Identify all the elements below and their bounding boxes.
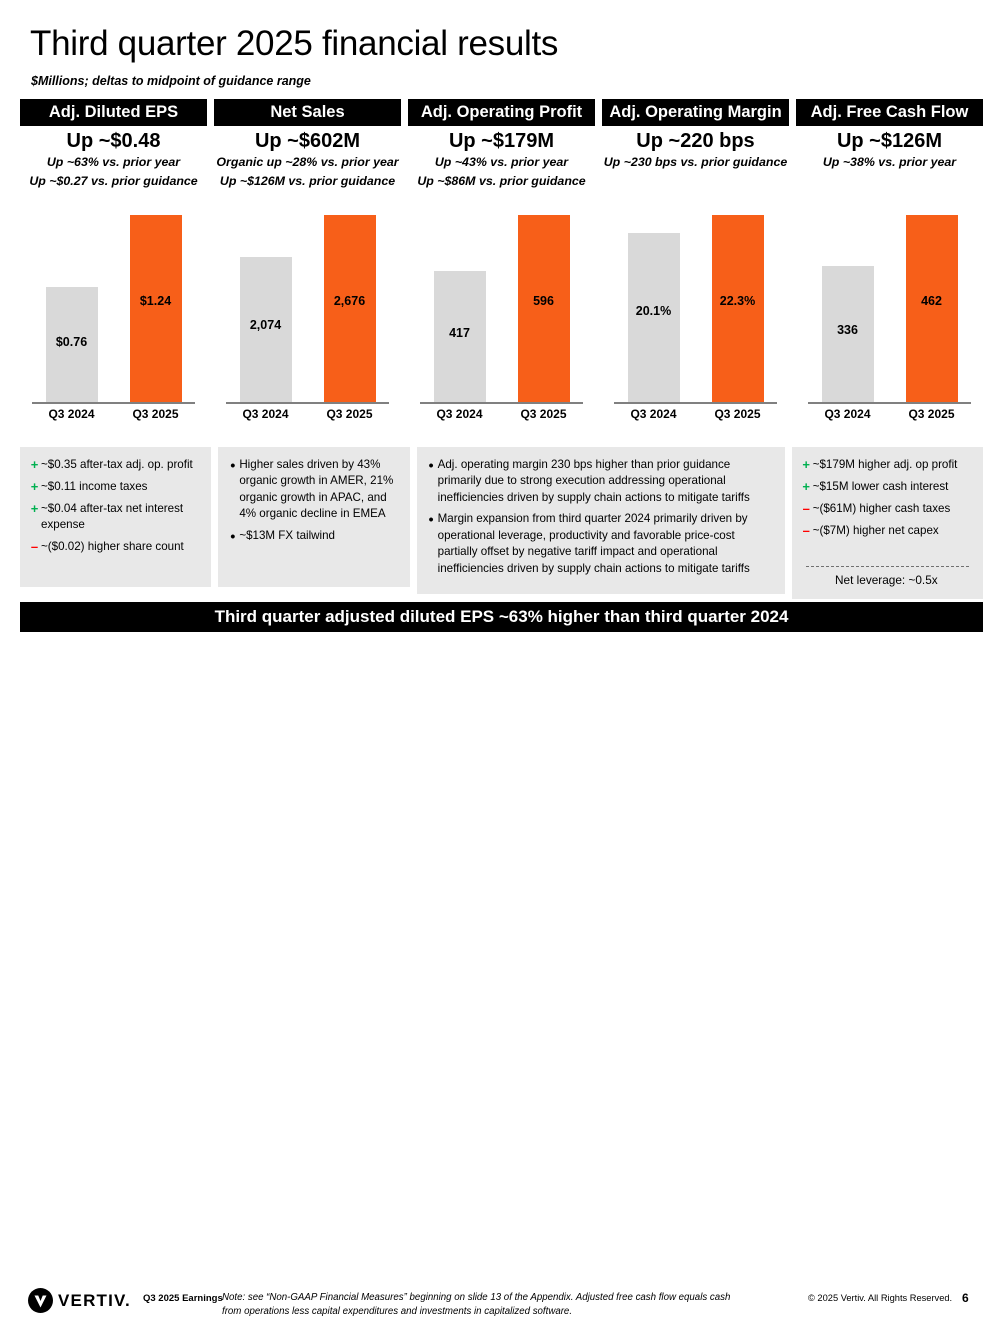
- commentary-text: ~($61M) higher cash taxes: [813, 501, 973, 517]
- axis-tick-labels: Q3 2024 Q3 2025: [796, 407, 983, 421]
- commentary-box-free-cash-flow: +~$179M higher adj. op profit+~$15M lowe…: [792, 447, 983, 599]
- bar-charts: $0.76 $1.24 Q3 2024 Q3 2025 2,074: [20, 183, 983, 431]
- page-title: Third quarter 2025 financial results: [30, 24, 558, 64]
- bar-current: 22.3%: [712, 215, 764, 402]
- metric-column-operating-profit: Adj. Operating Profit Up ~$179M Up ~43% …: [408, 99, 595, 192]
- metric-column-free-cash-flow: Adj. Free Cash Flow Up ~$126M Up ~38% vs…: [796, 99, 983, 192]
- commentary-item: +~$0.04 after-tax net interest expense: [28, 501, 201, 534]
- commentary-item: •Margin expansion from third quarter 202…: [425, 511, 775, 577]
- footer-deck-tag: Q3 2025 Earnings: [143, 1293, 223, 1304]
- bar-group-current: $1.24: [130, 183, 182, 402]
- metric-column-net-sales: Net Sales Up ~$602M Organic up ~28% vs. …: [214, 99, 401, 192]
- dot-marker-icon: •: [226, 528, 239, 544]
- axis-tick-labels: Q3 2024 Q3 2025: [214, 407, 401, 421]
- minus-marker-icon: –: [800, 523, 813, 540]
- metric-header-net-sales: Net Sales: [214, 99, 401, 126]
- commentary-text: ~($7M) higher net capex: [813, 523, 973, 539]
- bar-group-prior: 336: [822, 183, 874, 402]
- commentary-item: –~($0.02) higher share count: [28, 539, 201, 556]
- bar-group-current: 596: [518, 183, 570, 402]
- commentary-boxes: +~$0.35 after-tax adj. op. profit+~$0.11…: [20, 447, 983, 599]
- axis-line: [226, 402, 389, 404]
- axis-line: [614, 402, 777, 404]
- commentary-box-net-sales: •Higher sales driven by 43% organic grow…: [218, 447, 409, 587]
- bar-prior: $0.76: [46, 287, 98, 402]
- bar-value-label: $0.76: [46, 335, 98, 349]
- bar-group-current: 2,676: [324, 183, 376, 402]
- bar-chart-eps: $0.76 $1.24 Q3 2024 Q3 2025: [20, 183, 207, 431]
- axis-tick-label: Q3 2025: [906, 407, 958, 421]
- commentary-item: –~($7M) higher net capex: [800, 523, 973, 540]
- plot-area: 20.1% 22.3%: [602, 183, 789, 402]
- commentary-item: +~$0.35 after-tax adj. op. profit: [28, 457, 201, 474]
- bar-value-label: $1.24: [130, 294, 182, 308]
- commentary-text: Margin expansion from third quarter 2024…: [438, 511, 775, 577]
- commentary-text: ~$0.35 after-tax adj. op. profit: [41, 457, 201, 473]
- metric-column-operating-margin: Adj. Operating Margin Up ~220 bps Up ~23…: [602, 99, 789, 192]
- footer-disclaimer: Note: see “Non-GAAP Financial Measures” …: [222, 1291, 752, 1319]
- bar-prior: 336: [822, 266, 874, 402]
- bar-prior: 20.1%: [628, 233, 680, 402]
- axis-tick-labels: Q3 2024 Q3 2025: [408, 407, 595, 421]
- dashed-divider: [806, 566, 969, 567]
- bar-value-label: 462: [906, 294, 958, 308]
- axis-tick-label: Q3 2024: [46, 407, 98, 421]
- metric-subline-eps-1: Up ~63% vs. prior year: [20, 153, 207, 172]
- bar-group-current: 22.3%: [712, 183, 764, 402]
- bar-value-label: 20.1%: [628, 304, 680, 318]
- commentary-text: ~$15M lower cash interest: [813, 479, 973, 495]
- vertiv-logo-icon: [28, 1288, 53, 1313]
- metric-subline-net-sales-1: Organic up ~28% vs. prior year: [214, 153, 401, 172]
- metric-header-free-cash-flow: Adj. Free Cash Flow: [796, 99, 983, 126]
- commentary-text: ~$0.04 after-tax net interest expense: [41, 501, 201, 534]
- plus-marker-icon: +: [28, 501, 41, 518]
- metric-headline-free-cash-flow: Up ~$126M: [796, 130, 983, 153]
- commentary-text: ~$179M higher adj. op profit: [813, 457, 973, 473]
- dot-marker-icon: •: [425, 511, 438, 527]
- axis-tick-label: Q3 2024: [822, 407, 874, 421]
- plot-area: $0.76 $1.24: [20, 183, 207, 402]
- axis-tick-label: Q3 2024: [240, 407, 292, 421]
- metric-headline-net-sales: Up ~$602M: [214, 130, 401, 153]
- commentary-item: +~$15M lower cash interest: [800, 479, 973, 496]
- net-leverage-value: Net leverage: ~0.5x: [800, 573, 973, 587]
- metric-header-eps: Adj. Diluted EPS: [20, 99, 207, 126]
- bar-group-prior: 417: [434, 183, 486, 402]
- axis-tick-label: Q3 2024: [434, 407, 486, 421]
- bar-value-label: 417: [434, 326, 486, 340]
- commentary-box-operating: •Adj. operating margin 230 bps higher th…: [417, 447, 785, 594]
- bar-group-prior: $0.76: [46, 183, 98, 402]
- dot-marker-icon: •: [425, 457, 438, 473]
- commentary-item: –~($61M) higher cash taxes: [800, 501, 973, 518]
- axis-tick-label: Q3 2024: [628, 407, 680, 421]
- minus-marker-icon: –: [28, 539, 41, 556]
- axis-line: [32, 402, 195, 404]
- metric-headline-operating-profit: Up ~$179M: [408, 130, 595, 153]
- bar-chart-net-sales: 2,074 2,676 Q3 2024 Q3 2025: [214, 183, 401, 431]
- bar-value-label: 2,074: [240, 318, 292, 332]
- page-subtitle: $Millions; deltas to midpoint of guidanc…: [31, 74, 311, 88]
- bar-value-label: 22.3%: [712, 294, 764, 308]
- axis-tick-labels: Q3 2024 Q3 2025: [602, 407, 789, 421]
- commentary-item: +~$179M higher adj. op profit: [800, 457, 973, 474]
- vertiv-wordmark: VERTIV.: [58, 1291, 131, 1311]
- page-number: 6: [962, 1291, 969, 1305]
- metric-headline-eps: Up ~$0.48: [20, 130, 207, 153]
- commentary-text: ~($0.02) higher share count: [41, 539, 201, 555]
- bar-group-current: 462: [906, 183, 958, 402]
- commentary-item: •Adj. operating margin 230 bps higher th…: [425, 457, 775, 506]
- summary-banner: Third quarter adjusted diluted EPS ~63% …: [20, 602, 983, 632]
- commentary-text: ~$13M FX tailwind: [239, 528, 399, 544]
- bar-value-label: 2,676: [324, 294, 376, 308]
- axis-line: [808, 402, 971, 404]
- bar-current: $1.24: [130, 215, 182, 402]
- metric-headline-operating-margin: Up ~220 bps: [602, 130, 789, 153]
- bar-current: 462: [906, 215, 958, 402]
- metric-header-operating-profit: Adj. Operating Profit: [408, 99, 595, 126]
- metric-columns: Adj. Diluted EPS Up ~$0.48 Up ~63% vs. p…: [20, 99, 983, 192]
- bar-current: 2,676: [324, 215, 376, 402]
- bar-current: 596: [518, 215, 570, 402]
- commentary-text: Adj. operating margin 230 bps higher tha…: [438, 457, 775, 506]
- dot-marker-icon: •: [226, 457, 239, 473]
- bar-value-label: 596: [518, 294, 570, 308]
- bar-prior: 417: [434, 271, 486, 402]
- axis-tick-label: Q3 2025: [324, 407, 376, 421]
- bar-chart-free-cash-flow: 336 462 Q3 2024 Q3 2025: [796, 183, 983, 431]
- minus-marker-icon: –: [800, 501, 813, 518]
- commentary-text: ~$0.11 income taxes: [41, 479, 201, 495]
- axis-line: [420, 402, 583, 404]
- bar-prior: 2,074: [240, 257, 292, 402]
- plus-marker-icon: +: [800, 457, 813, 474]
- axis-tick-label: Q3 2025: [130, 407, 182, 421]
- commentary-text: Higher sales driven by 43% organic growt…: [239, 457, 399, 523]
- bar-group-prior: 2,074: [240, 183, 292, 402]
- axis-tick-labels: Q3 2024 Q3 2025: [20, 407, 207, 421]
- metric-header-operating-margin: Adj. Operating Margin: [602, 99, 789, 126]
- bar-group-prior: 20.1%: [628, 183, 680, 402]
- metric-subline-free-cash-flow-1: Up ~38% vs. prior year: [796, 153, 983, 172]
- bar-value-label: 336: [822, 323, 874, 337]
- footer-copyright: © 2025 Vertiv. All Rights Reserved.: [808, 1293, 952, 1303]
- metric-subline-operating-profit-1: Up ~43% vs. prior year: [408, 153, 595, 172]
- plot-area: 417 596: [408, 183, 595, 402]
- bar-chart-operating-margin: 20.1% 22.3% Q3 2024 Q3 2025: [602, 183, 789, 431]
- metric-column-eps: Adj. Diluted EPS Up ~$0.48 Up ~63% vs. p…: [20, 99, 207, 192]
- plus-marker-icon: +: [800, 479, 813, 496]
- axis-tick-label: Q3 2025: [518, 407, 570, 421]
- bar-chart-operating-profit: 417 596 Q3 2024 Q3 2025: [408, 183, 595, 431]
- commentary-box-eps: +~$0.35 after-tax adj. op. profit+~$0.11…: [20, 447, 211, 587]
- commentary-item: •Higher sales driven by 43% organic grow…: [226, 457, 399, 523]
- axis-tick-label: Q3 2025: [712, 407, 764, 421]
- plus-marker-icon: +: [28, 479, 41, 496]
- commentary-item: +~$0.11 income taxes: [28, 479, 201, 496]
- plot-area: 336 462: [796, 183, 983, 402]
- commentary-item: •~$13M FX tailwind: [226, 528, 399, 544]
- plot-area: 2,074 2,676: [214, 183, 401, 402]
- plus-marker-icon: +: [28, 457, 41, 474]
- footer: VERTIV. Q3 2025 Earnings Note: see “Non-…: [0, 643, 1000, 685]
- metric-subline-operating-margin-1: Up ~230 bps vs. prior guidance: [602, 153, 789, 172]
